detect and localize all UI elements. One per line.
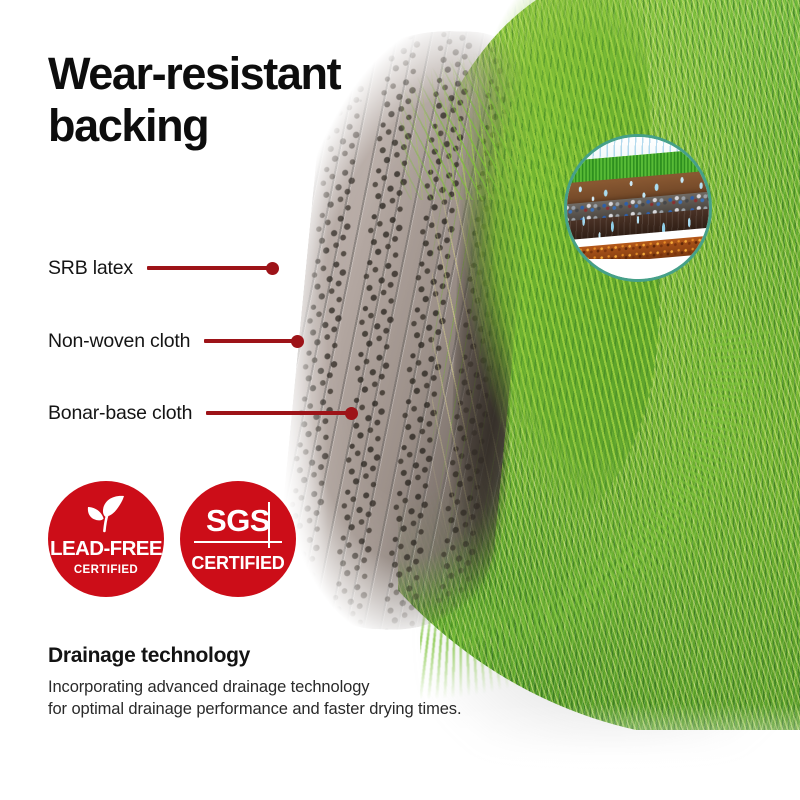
page-title: Wear-resistant backing: [48, 48, 478, 152]
sgs-cross-icon: SGS: [192, 505, 284, 545]
infographic-canvas: Wear-resistant backing SRB latex Non-wov…: [0, 0, 800, 800]
badge-subtitle: CERTIFIED: [191, 554, 284, 572]
badge-subtitle: CERTIFIED: [74, 565, 138, 577]
callout-leader-line: [206, 411, 354, 415]
drainage-technology-section: Drainage technology Incorporating advanc…: [48, 644, 461, 721]
certification-badges: LEAD-FREE CERTIFIED SGS CERTIFIED: [48, 481, 296, 597]
callout-srb-latex: SRB latex: [48, 255, 275, 281]
badge-sgs-certified: SGS CERTIFIED: [180, 481, 296, 597]
callout-non-woven-cloth: Non-woven cloth: [48, 328, 300, 354]
callout-label: Bonar-base cloth: [48, 402, 192, 425]
badge-lead-free-certified: LEAD-FREE CERTIFIED: [48, 481, 164, 597]
section-title: Drainage technology: [48, 644, 461, 668]
callout-label: SRB latex: [48, 257, 133, 280]
turf-blade-fringe: [420, 330, 800, 730]
badge-title: LEAD-FREE: [50, 539, 162, 560]
drainage-cross-section-inset: [564, 134, 712, 282]
sgs-cross-horizontal: [194, 541, 282, 543]
leaf-sprout-icon: [84, 493, 128, 533]
callout-leader-line: [147, 266, 275, 270]
callout-leader-line: [204, 339, 300, 343]
section-body: Incorporating advanced drainage technolo…: [48, 677, 461, 721]
badge-title: SGS: [206, 505, 270, 536]
callout-label: Non-woven cloth: [48, 330, 190, 353]
inset-bottom-fade: [564, 259, 712, 279]
callout-bonar-base-cloth: Bonar-base cloth: [48, 400, 354, 426]
turf-drop-shadow: [430, 330, 800, 750]
